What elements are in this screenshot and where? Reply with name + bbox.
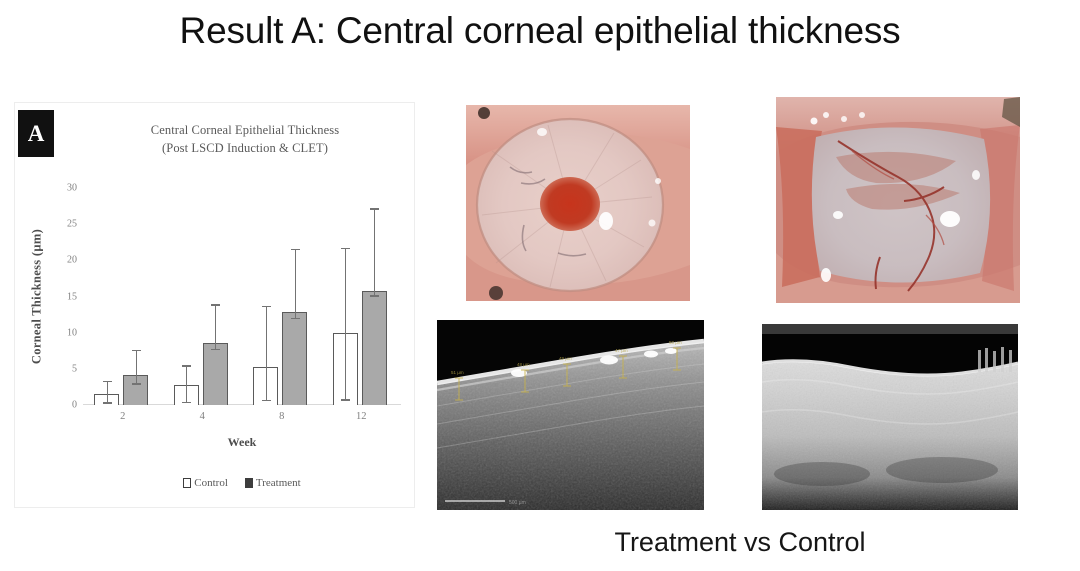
y-tick-20: 20 <box>51 255 77 266</box>
svg-text:47 µm: 47 µm <box>615 348 628 353</box>
legend-label-treatment: Treatment <box>256 477 301 489</box>
errorbar-cap-bottom <box>262 400 271 401</box>
errorbar-cap-top <box>262 306 271 307</box>
errorbar-cap-top <box>132 350 141 351</box>
errorbar-cap-top <box>291 249 300 250</box>
bar-treatment-week-12 <box>362 291 387 405</box>
errorbar-cap-top <box>182 365 191 366</box>
y-tick-10: 10 <box>51 327 77 338</box>
oct-scan-control-cornea <box>762 324 1018 510</box>
errorbar-cap-bottom <box>291 318 300 319</box>
y-tick-30: 30 <box>51 183 77 194</box>
page-title: Result A: Central corneal epithelial thi… <box>0 10 1080 52</box>
svg-text:48 µm: 48 µm <box>517 362 530 367</box>
errorbar-cap-top <box>370 208 379 209</box>
legend-swatch-control-icon <box>183 478 191 488</box>
errorbar-control-week-12 <box>345 248 346 401</box>
oct-scan-treatment-cornea: 51 µm 48 µm 49 µm 47 µm 50 µm 500 µm <box>437 320 704 510</box>
errorbar-cap-top <box>341 248 350 249</box>
plot-area <box>83 188 401 405</box>
bar-group-week-8 <box>242 188 322 405</box>
bar-group-week-2 <box>83 188 163 405</box>
svg-text:51 µm: 51 µm <box>451 370 464 375</box>
slit-lamp-photo-control-eye <box>776 97 1020 303</box>
y-tick-15: 15 <box>51 291 77 302</box>
bar-group-week-12 <box>322 188 402 405</box>
errorbar-cap-bottom <box>211 349 220 350</box>
errorbar-treatment-week-12 <box>374 208 375 296</box>
chart-legend: Control Treatment <box>83 477 401 489</box>
errorbar-cap-bottom <box>370 295 379 296</box>
errorbar-cap-bottom <box>103 402 112 403</box>
y-axis-ticks: 302520151050 <box>51 103 77 509</box>
y-tick-25: 25 <box>51 219 77 230</box>
caption-treatment-vs-control: Treatment vs Control <box>430 527 1050 558</box>
y-axis-title: Corneal Thickness (µm) <box>30 217 45 377</box>
errorbar-treatment-week-4 <box>215 304 216 350</box>
bar-treatment-week-4 <box>203 343 228 405</box>
x-tick-week-8: 8 <box>242 411 322 422</box>
legend-swatch-treatment-icon <box>245 478 253 488</box>
errorbar-control-week-4 <box>186 365 187 403</box>
y-tick-0: 0 <box>51 400 77 411</box>
panel-label-a: A <box>18 110 54 157</box>
errorbar-cap-bottom <box>132 383 141 384</box>
x-tick-week-4: 4 <box>163 411 243 422</box>
errorbar-cap-top <box>211 304 220 305</box>
legend-item-control: Control <box>183 477 228 489</box>
errorbar-control-week-2 <box>107 381 108 403</box>
svg-text:49 µm: 49 µm <box>559 356 572 361</box>
slit-lamp-photo-treatment-eye <box>466 105 690 301</box>
chart-panel: Central Corneal Epithelial Thickness (Po… <box>14 102 415 508</box>
errorbar-treatment-week-8 <box>295 249 296 319</box>
svg-text:50 µm: 50 µm <box>669 340 682 345</box>
bar-group-week-4 <box>163 188 243 405</box>
errorbar-control-week-8 <box>266 306 267 401</box>
x-tick-week-2: 2 <box>83 411 163 422</box>
y-tick-5: 5 <box>51 363 77 374</box>
plot-wrap: Corneal Thickness (µm) 302520151050 2481… <box>15 103 416 509</box>
bar-treatment-week-8 <box>282 312 307 405</box>
x-tick-week-12: 12 <box>322 411 402 422</box>
errorbar-cap-top <box>103 381 112 382</box>
errorbar-cap-bottom <box>182 402 191 403</box>
legend-item-treatment: Treatment <box>245 477 301 489</box>
svg-text:500 µm: 500 µm <box>509 500 526 506</box>
legend-label-control: Control <box>194 477 228 489</box>
errorbar-cap-bottom <box>341 399 350 400</box>
errorbar-treatment-week-2 <box>136 350 137 385</box>
x-axis-title: Week <box>83 435 401 450</box>
